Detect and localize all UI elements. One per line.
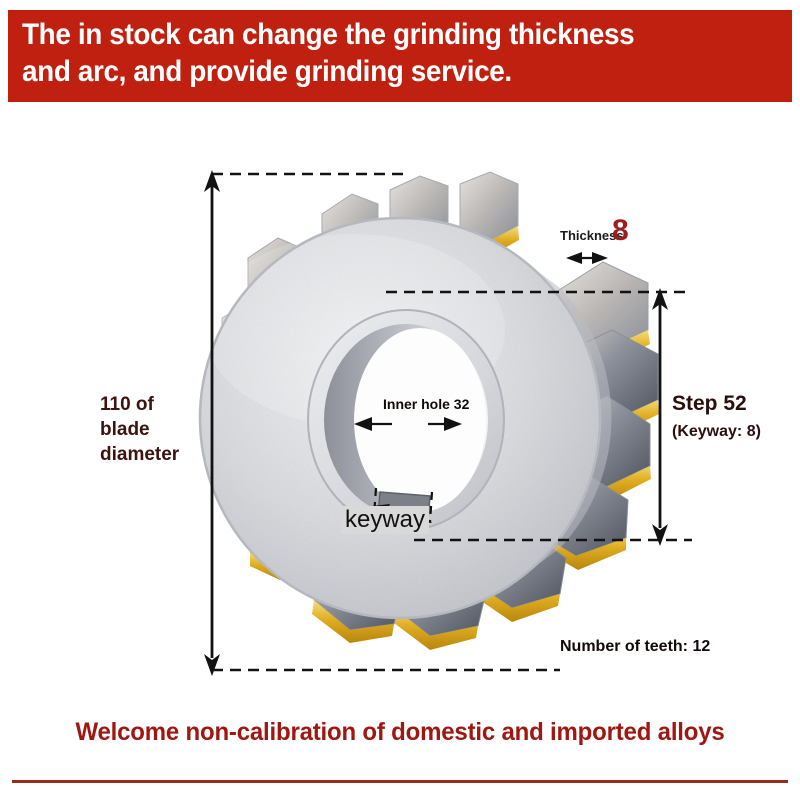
blade-diameter-label: 110 of blade diameter: [100, 392, 220, 467]
inner-hole-dimension: [354, 417, 462, 431]
inner-hole-label: Inner hole 32: [383, 396, 469, 412]
product-spec-image: The in stock can change the grinding thi…: [0, 0, 800, 800]
footer-divider: [12, 780, 788, 783]
thickness-value-label: 8: [612, 216, 629, 246]
keyway-label: keyway: [341, 506, 429, 534]
keyway-size-label: (Keyway: 8): [672, 423, 761, 441]
step-label: Step 52: [672, 392, 747, 416]
teeth-count-label: Number of teeth: 12: [560, 638, 710, 656]
footer-text: Welcome non-calibration of domestic and …: [16, 718, 784, 747]
thickness-dimension: [566, 252, 608, 264]
